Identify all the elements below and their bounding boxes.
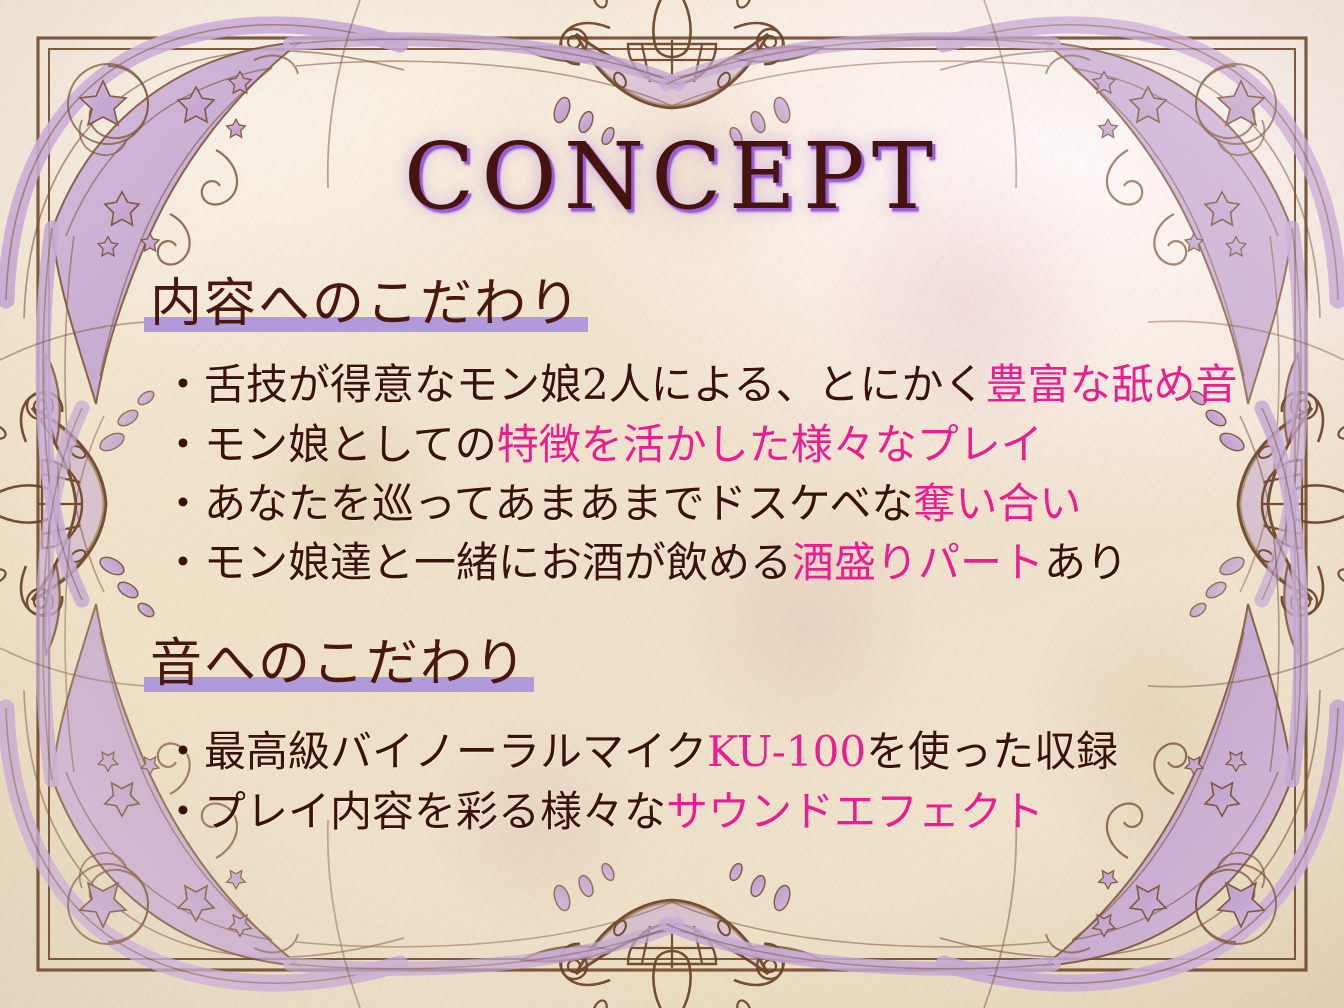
- section-heading-sound-label: 音へのこだわり: [150, 634, 528, 694]
- bullet-text-plain-tail: を使った収録: [866, 727, 1118, 776]
- slide-content: CONCEPT 内容へのこだわり ・舌技が得意なモン娘2人による、とにかく豊富な…: [0, 0, 1344, 1008]
- bullet-text-accent: 豊富な舐め音: [985, 360, 1237, 409]
- bullet-text-plain-tail: あり: [1044, 538, 1128, 587]
- list-item: ・最高級バイノーラルマイクKU-100を使った収録: [162, 731, 1118, 773]
- list-item: ・プレイ内容を彩る様々なサウンドエフェクト: [162, 791, 1044, 833]
- bullet-text-plain: ・モン娘としての: [162, 420, 497, 469]
- bullet-text-plain: ・モン娘達と一緒にお酒が飲める: [162, 538, 792, 587]
- bullet-text-plain: ・舌技が得意なモン娘2人による、とにかく: [162, 360, 985, 409]
- list-item: ・モン娘としての特徴を活かした様々なプレイ: [162, 424, 1043, 466]
- bullet-text-plain: ・プレイ内容を彩る様々な: [162, 787, 666, 836]
- bullet-text-plain: ・あなたを巡ってあまあまでドスケベな: [162, 479, 913, 528]
- bullet-text-plain: ・最高級バイノーラルマイク: [162, 727, 707, 776]
- section-heading-content-label: 内容へのこだわり: [150, 274, 582, 334]
- list-item: ・モン娘達と一緒にお酒が飲める酒盛りパートあり: [162, 542, 1128, 584]
- bullet-text-accent: KU-100: [707, 727, 866, 776]
- page-title: CONCEPT: [0, 131, 1344, 223]
- bullet-text-accent: サウンドエフェクト: [666, 787, 1044, 836]
- bullet-text-accent: 酒盛りパート: [792, 538, 1044, 587]
- bullet-text-accent: 特徴を活かした様々なプレイ: [497, 420, 1043, 469]
- section-heading-sound: 音へのこだわり: [148, 638, 530, 690]
- concept-slide: CONCEPT 内容へのこだわり ・舌技が得意なモン娘2人による、とにかく豊富な…: [0, 0, 1344, 1008]
- section-heading-content: 内容へのこだわり: [148, 278, 584, 330]
- list-item: ・舌技が得意なモン娘2人による、とにかく豊富な舐め音: [162, 364, 1237, 406]
- list-item: ・あなたを巡ってあまあまでドスケベな奪い合い: [162, 483, 1081, 525]
- bullet-text-accent: 奪い合い: [913, 479, 1081, 528]
